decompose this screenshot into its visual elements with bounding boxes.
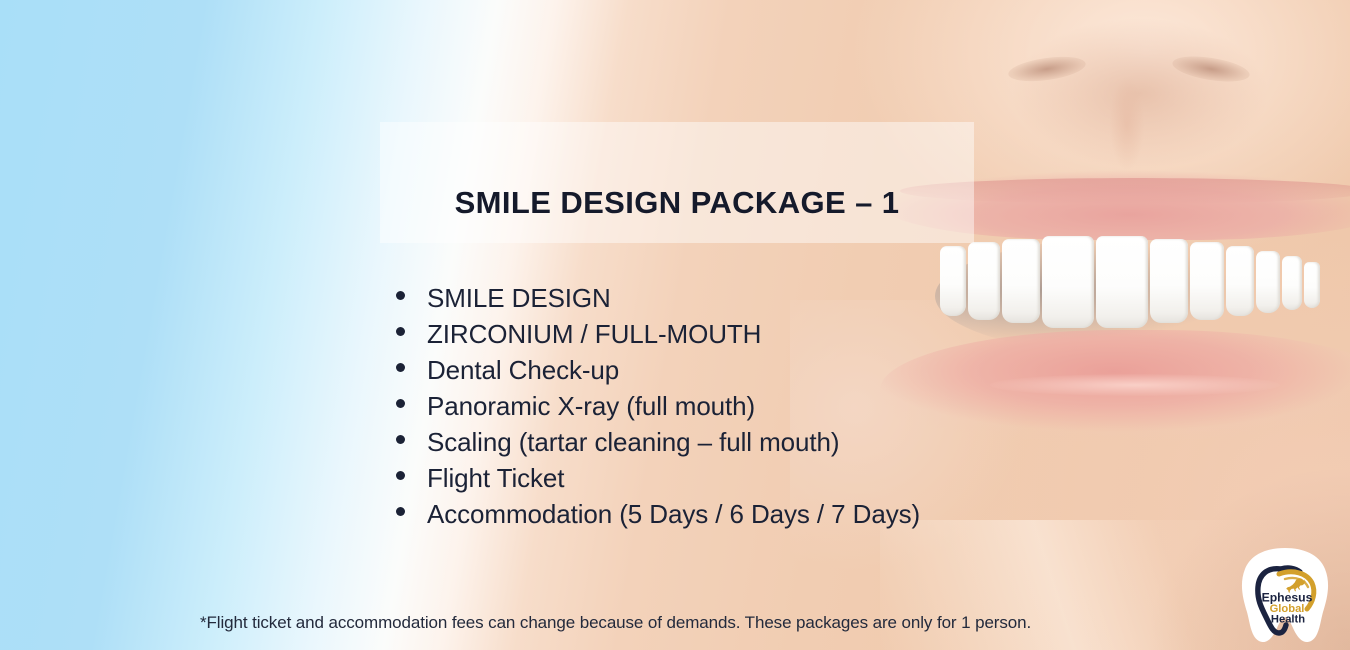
feature-item-label: Dental Check-up [427, 355, 619, 386]
tooth [1282, 256, 1302, 310]
feature-item: Panoramic X-ray (full mouth) [396, 391, 920, 427]
feature-item: Accommodation (5 Days / 6 Days / 7 Days) [396, 499, 920, 535]
bullet-dot-icon [396, 327, 405, 336]
feature-item: Scaling (tartar cleaning – full mouth) [396, 427, 920, 463]
tooth [1002, 239, 1040, 323]
feature-item-label: Flight Ticket [427, 463, 564, 494]
bullet-dot-icon [396, 399, 405, 408]
smile-design-package-banner: SMILE DESIGN PACKAGE – 1 SMILE DESIGNZIR… [0, 0, 1350, 650]
bullet-dot-icon [396, 435, 405, 444]
footnote-disclaimer: *Flight ticket and accommodation fees ca… [200, 613, 1031, 633]
bullet-dot-icon [396, 507, 405, 516]
feature-item-label: Panoramic X-ray (full mouth) [427, 391, 755, 422]
feature-item: Flight Ticket [396, 463, 920, 499]
feature-item-label: Accommodation (5 Days / 6 Days / 7 Days) [427, 499, 920, 530]
tooth [1190, 242, 1224, 320]
bullet-dot-icon [396, 291, 405, 300]
tooth [1256, 251, 1280, 313]
feature-item-label: Scaling (tartar cleaning – full mouth) [427, 427, 839, 458]
feature-item-label: SMILE DESIGN [427, 283, 611, 314]
logo-icon: Ephesus Global Health [1235, 545, 1335, 645]
ephesus-global-health-logo[interactable]: Ephesus Global Health [1235, 545, 1335, 645]
tooth [1042, 236, 1094, 328]
package-feature-list: SMILE DESIGNZIRCONIUM / FULL-MOUTHDental… [396, 283, 920, 535]
feature-item: Dental Check-up [396, 355, 920, 391]
lower-lip-highlight [990, 374, 1280, 396]
feature-item: SMILE DESIGN [396, 283, 920, 319]
logo-text-health: Health [1271, 614, 1305, 626]
bullet-dot-icon [396, 471, 405, 480]
tooth [1150, 239, 1188, 323]
bullet-dot-icon [396, 363, 405, 372]
page-title: SMILE DESIGN PACKAGE – 1 [380, 143, 974, 264]
tooth [1226, 246, 1254, 316]
tooth [1304, 262, 1320, 308]
feature-item: ZIRCONIUM / FULL-MOUTH [396, 319, 920, 355]
tooth [1096, 236, 1148, 328]
feature-item-label: ZIRCONIUM / FULL-MOUTH [427, 319, 761, 350]
